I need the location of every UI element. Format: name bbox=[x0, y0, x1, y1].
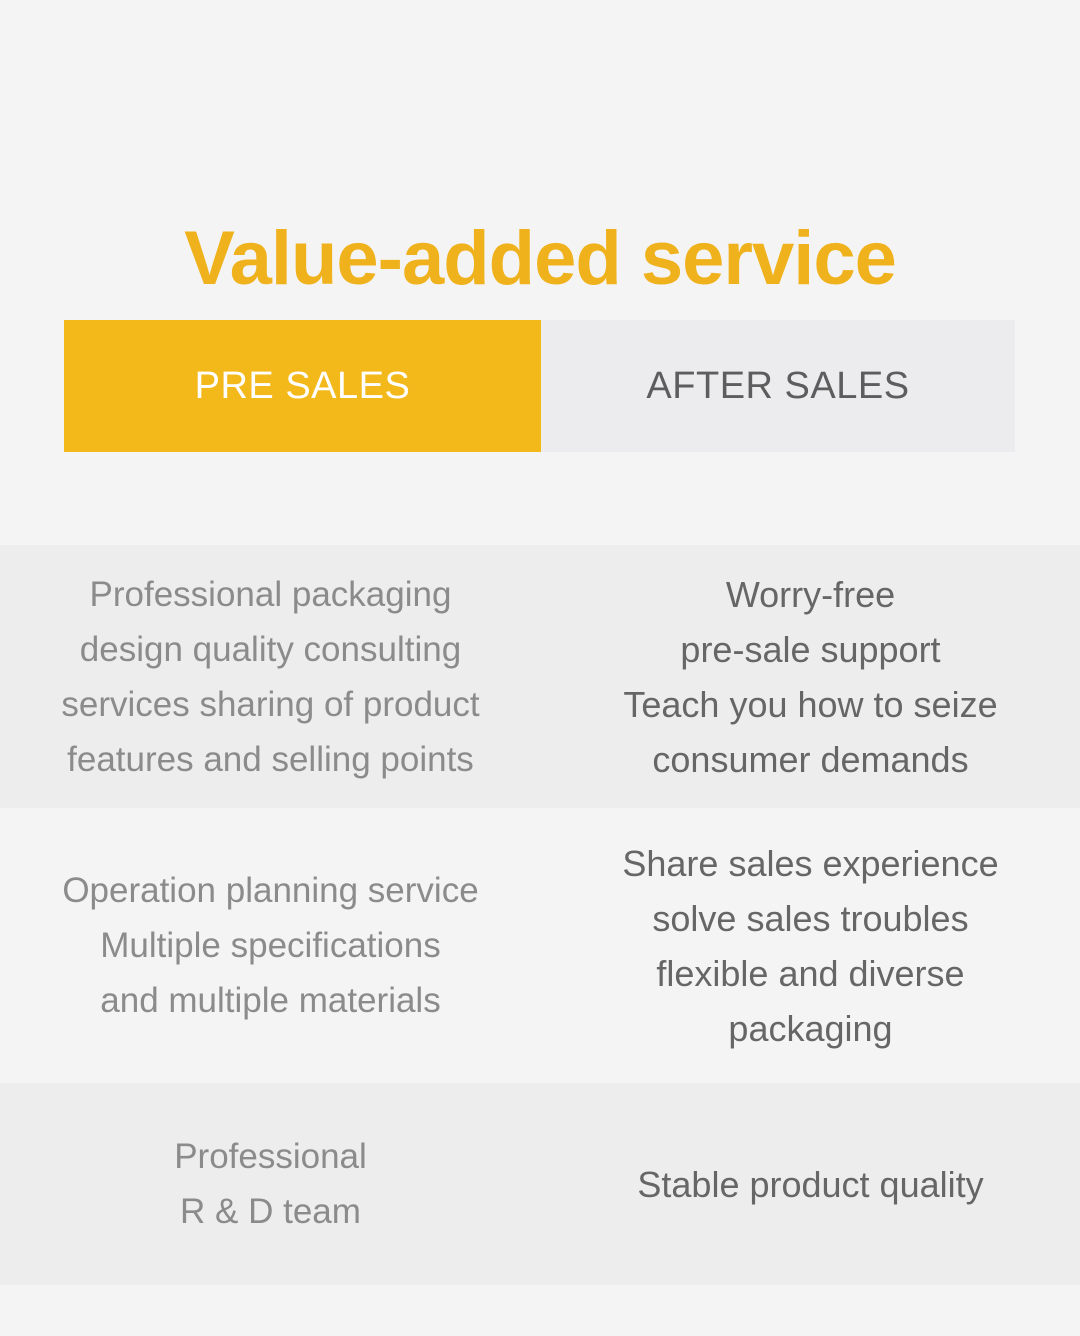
after-sales-cell: Worry-freepre-sale supportTeach you how … bbox=[541, 545, 1080, 808]
table-row: ProfessionalR & D team Stable product qu… bbox=[0, 1083, 1080, 1285]
value-added-service-page: Value-added service PRE SALES AFTER SALE… bbox=[0, 0, 1080, 1336]
after-sales-text: Worry-freepre-sale supportTeach you how … bbox=[623, 567, 997, 787]
pre-sales-cell: Professional packagingdesign quality con… bbox=[0, 545, 541, 808]
table-row: Operation planning serviceMultiple speci… bbox=[0, 808, 1080, 1083]
pre-sales-text: Professional packagingdesign quality con… bbox=[61, 567, 479, 787]
pre-sales-cell: ProfessionalR & D team bbox=[0, 1083, 541, 1285]
tab-after-sales-label: AFTER SALES bbox=[646, 365, 909, 408]
pre-sales-text: ProfessionalR & D team bbox=[174, 1129, 367, 1239]
page-title: Value-added service bbox=[0, 211, 1080, 307]
pre-sales-cell: Operation planning serviceMultiple speci… bbox=[0, 808, 541, 1083]
after-sales-cell: Stable product quality bbox=[541, 1083, 1080, 1285]
tab-after-sales[interactable]: AFTER SALES bbox=[541, 320, 1015, 452]
tab-pre-sales[interactable]: PRE SALES bbox=[64, 320, 541, 452]
table-row: Professional packagingdesign quality con… bbox=[0, 545, 1080, 808]
after-sales-text: Share sales experiencesolve sales troubl… bbox=[622, 836, 998, 1056]
after-sales-cell: Share sales experiencesolve sales troubl… bbox=[541, 808, 1080, 1083]
after-sales-text: Stable product quality bbox=[637, 1157, 983, 1212]
tab-bar: PRE SALES AFTER SALES bbox=[64, 320, 1015, 452]
tab-pre-sales-label: PRE SALES bbox=[195, 365, 411, 408]
pre-sales-text: Operation planning serviceMultiple speci… bbox=[62, 863, 478, 1028]
